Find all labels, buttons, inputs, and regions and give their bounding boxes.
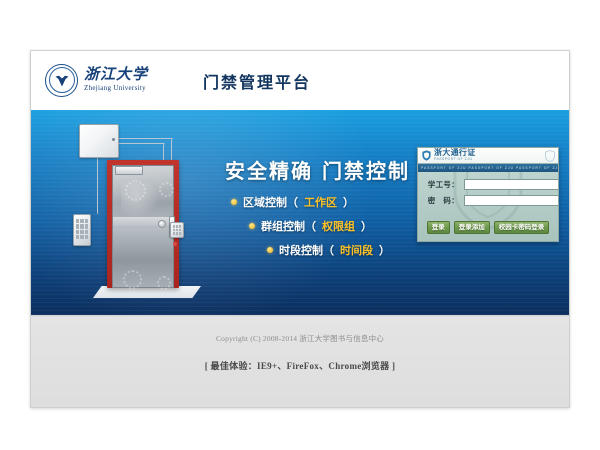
password-input[interactable] <box>464 195 559 206</box>
card-reader-grid <box>173 225 181 235</box>
login-panel-title-cn: 浙大通行证 <box>434 149 476 157</box>
feature-label: 时段控制（ <box>279 242 334 258</box>
gear-icon <box>157 276 171 290</box>
university-name: 浙江大学 Zhejiang University <box>84 68 148 92</box>
feature-label: 区域控制（ <box>243 194 298 210</box>
feature-list: 区域控制（工作区） 群组控制（权限组） 时段控制（时间段） <box>231 194 411 266</box>
login-panel-title-en: PASSPORT OF ZJU <box>434 158 476 161</box>
seal-bird-glyph <box>54 74 69 87</box>
feature-label: 群组控制（ <box>261 218 316 234</box>
zju-seal-icon <box>45 64 78 97</box>
userid-label: 学工号： <box>425 179 459 190</box>
feature-tail: ） <box>361 218 372 234</box>
login-row-password: 密 码： <box>425 195 551 206</box>
door-closer-icon <box>115 166 143 175</box>
feature-highlight: 时间段 <box>340 242 373 258</box>
login-panel: 浙大通行证 PASSPORT OF ZJU PASSPORT OF ZJU PA… <box>417 147 559 242</box>
door-knob-icon <box>158 220 166 228</box>
passport-strip-text: PASSPORT OF ZJU PASSPORT OF ZJU PASSPORT… <box>418 166 558 170</box>
login-panel-header: 浙大通行证 PASSPORT OF ZJU <box>418 148 558 164</box>
feature-tail: ） <box>379 242 390 258</box>
gear-icon <box>125 180 146 201</box>
screen-canvas: 浙江大学 Zhejiang University 门禁管理平台 <box>0 0 600 450</box>
card-reader-icon <box>170 222 184 238</box>
wire-segment <box>117 138 173 141</box>
passport-strip: PASSPORT OF ZJU PASSPORT OF ZJU PASSPORT… <box>418 164 558 172</box>
door-status-led <box>173 242 177 246</box>
feature-highlight: 权限组 <box>322 218 355 234</box>
shield-icon <box>422 150 431 161</box>
feature-highlight: 工作区 <box>304 194 337 210</box>
feature-item-area-control: 区域控制（工作区） <box>231 194 411 210</box>
feature-item-time-control: 时段控制（时间段） <box>267 242 411 258</box>
login-button[interactable]: 登录 <box>427 221 450 234</box>
copyright-text: Copyright (C) 2008-2014 浙江大学图书与信息中心 <box>31 333 569 344</box>
access-control-illustration <box>49 118 209 310</box>
userid-input[interactable] <box>464 179 559 190</box>
browser-support-note: [ 最佳体验：IE9+、FireFox、Chrome浏览器 ] <box>31 359 569 372</box>
footer-divider <box>31 315 569 317</box>
campus-card-login-button[interactable]: 校园卡密码登录 <box>494 221 550 234</box>
page-title: 门禁管理平台 <box>203 69 311 93</box>
feature-tail: ） <box>343 194 354 210</box>
login-button-group: 登录 登录添加 校园卡密码登录 <box>418 221 558 234</box>
page-card: 浙江大学 Zhejiang University 门禁管理平台 <box>30 50 570 408</box>
hero-banner: 安全精确 门禁控制 区域控制（工作区） 群组控制（权限组） 时段控制（时间段） <box>31 110 569 315</box>
university-name-en: Zhejiang University <box>84 85 148 92</box>
bullet-dot-icon <box>231 199 237 205</box>
login-row-userid: 学工号： <box>425 179 551 190</box>
gear-icon <box>123 270 142 289</box>
bullet-dot-icon <box>267 247 273 253</box>
access-controller-icon <box>79 124 119 158</box>
banner-headline: 安全精确 门禁控制 <box>225 155 410 184</box>
security-door-icon <box>107 160 179 288</box>
gear-icon <box>159 182 174 197</box>
wire-segment <box>97 156 100 214</box>
university-logo[interactable]: 浙江大学 Zhejiang University <box>45 63 185 97</box>
feature-item-group-control: 群组控制（权限组） <box>249 218 411 234</box>
shield-icon-secondary <box>545 150 555 162</box>
login-panel-title-block: 浙大通行证 PASSPORT OF ZJU <box>434 149 476 161</box>
password-label: 密 码： <box>425 195 459 206</box>
university-name-cn: 浙江大学 <box>84 68 148 83</box>
login-add-button[interactable]: 登录添加 <box>454 221 490 234</box>
wire-segment <box>117 143 165 146</box>
keypad-grid <box>76 219 88 239</box>
site-header: 浙江大学 Zhejiang University 门禁管理平台 <box>31 51 569 110</box>
keypad-reader-icon <box>73 214 91 246</box>
bullet-dot-icon <box>249 223 255 229</box>
site-footer: Copyright (C) 2008-2014 浙江大学图书与信息中心 [ 最佳… <box>31 315 569 407</box>
login-form: 学工号： 密 码： <box>418 174 558 211</box>
